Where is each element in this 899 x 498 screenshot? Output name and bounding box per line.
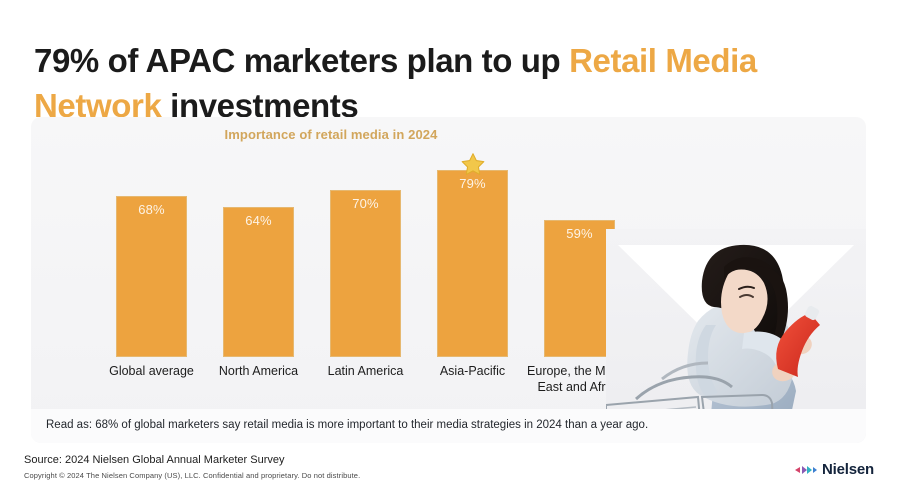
star-icon (460, 152, 486, 178)
nielsen-mark-icon (795, 463, 817, 477)
page-title: 79% of APAC marketers plan to up Retail … (34, 39, 844, 129)
bar[interactable]: 59% (544, 220, 615, 357)
bar[interactable]: 70% (330, 190, 401, 357)
bar-category-label: North America (203, 364, 314, 380)
bar-group: 59% Europe, the Middle East and Africa (544, 220, 615, 357)
bar-value-label: 79% (438, 176, 507, 191)
bar-category-label: Asia-Pacific (417, 364, 528, 380)
source-line: Source: 2024 Nielsen Global Annual Marke… (24, 454, 284, 466)
bar-value-label: 68% (117, 202, 186, 217)
bar[interactable]: 64% (223, 207, 294, 357)
bar-value-label: 59% (545, 226, 614, 241)
chart-card: Importance of retail media in 2024 More … (31, 117, 866, 443)
bar-group: 79% Asia-Pacific (437, 170, 508, 357)
bar-group: 64% North America (223, 207, 294, 357)
bar-category-label: Latin America (310, 364, 421, 380)
bar-value-label: 70% (331, 196, 400, 211)
bar-category-label: Global average (96, 364, 207, 380)
bar-group: 70% Latin America (330, 190, 401, 357)
bar-value-label: 64% (224, 213, 293, 228)
bar-highlighted[interactable]: 79% (437, 170, 508, 357)
nielsen-logo: Nielsen (795, 461, 874, 478)
copyright-line: Copyright © 2024 The Nielsen Company (US… (24, 471, 360, 480)
readas-band: Read as: 68% of global marketers say ret… (31, 409, 866, 443)
bar-group: 68% Global average (116, 196, 187, 357)
bar[interactable]: 68% (116, 196, 187, 357)
nielsen-wordmark: Nielsen (822, 461, 874, 478)
readas-note: Read as: 68% of global marketers say ret… (46, 419, 648, 431)
headline-part-1: 79% of APAC marketers plan to up (34, 42, 569, 79)
